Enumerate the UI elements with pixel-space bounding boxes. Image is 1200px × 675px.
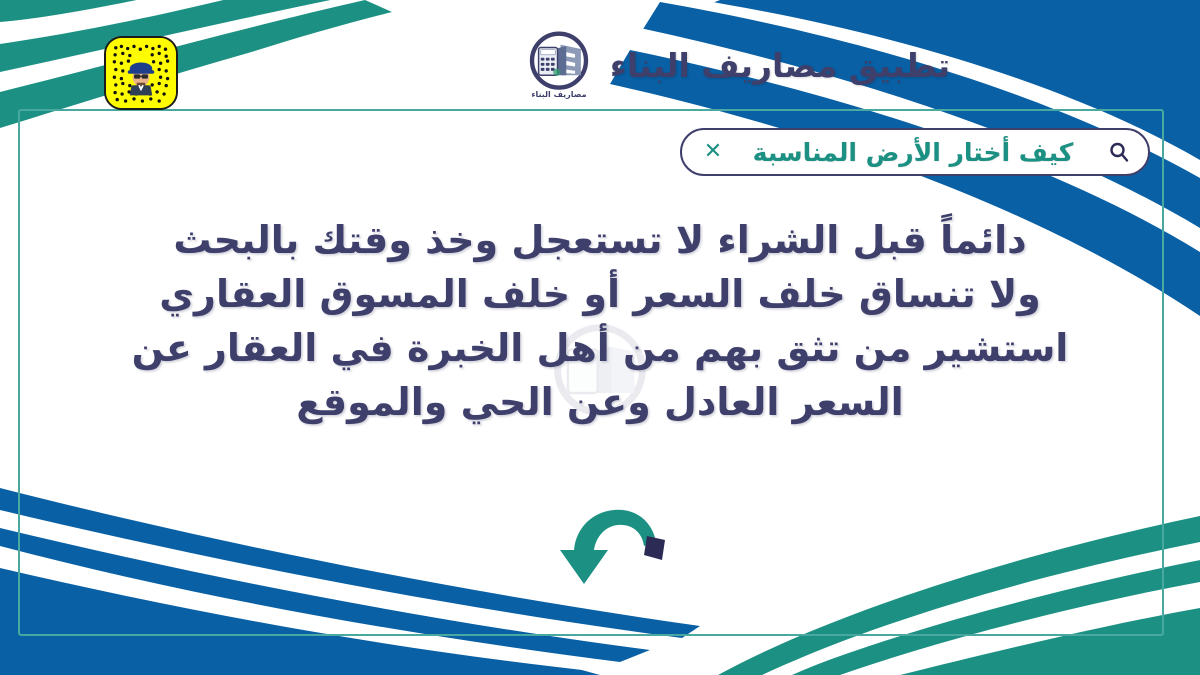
message-line: ولا تنساق خلف السعر أو خلف المسوق العقار… [60, 268, 1140, 322]
message-body: دائماً قبل الشراء لا تستعجل وخذ وقتك بال… [60, 214, 1140, 430]
close-icon[interactable]: ✕ [700, 139, 726, 165]
curved-down-left-arrow-icon [548, 498, 678, 594]
search-bar[interactable]: كيف أختار الأرض المناسبة ✕ [680, 128, 1150, 176]
message-line: دائماً قبل الشراء لا تستعجل وخذ وقتك بال… [60, 214, 1140, 268]
header-title-group: تطبيق مصاريف البناء [522, 30, 950, 100]
slide-canvas: تطبيق مصاريف البناء [0, 0, 1200, 675]
snapchat-snapcode[interactable] [104, 36, 178, 110]
masareef-albinaa-logo: مصاريف البناء [522, 30, 596, 100]
search-input[interactable]: كيف أختار الأرض المناسبة [726, 138, 1106, 167]
header: تطبيق مصاريف البناء [0, 24, 1200, 106]
message-line: السعر العادل وعن الحي والموقع [60, 376, 1140, 430]
message-line: استشير من تثق بهم من أهل الخبرة في العقا… [60, 322, 1140, 376]
logo-caption: مصاريف البناء [531, 90, 586, 99]
search-icon [1106, 139, 1132, 165]
page-title: تطبيق مصاريف البناء [610, 46, 950, 85]
